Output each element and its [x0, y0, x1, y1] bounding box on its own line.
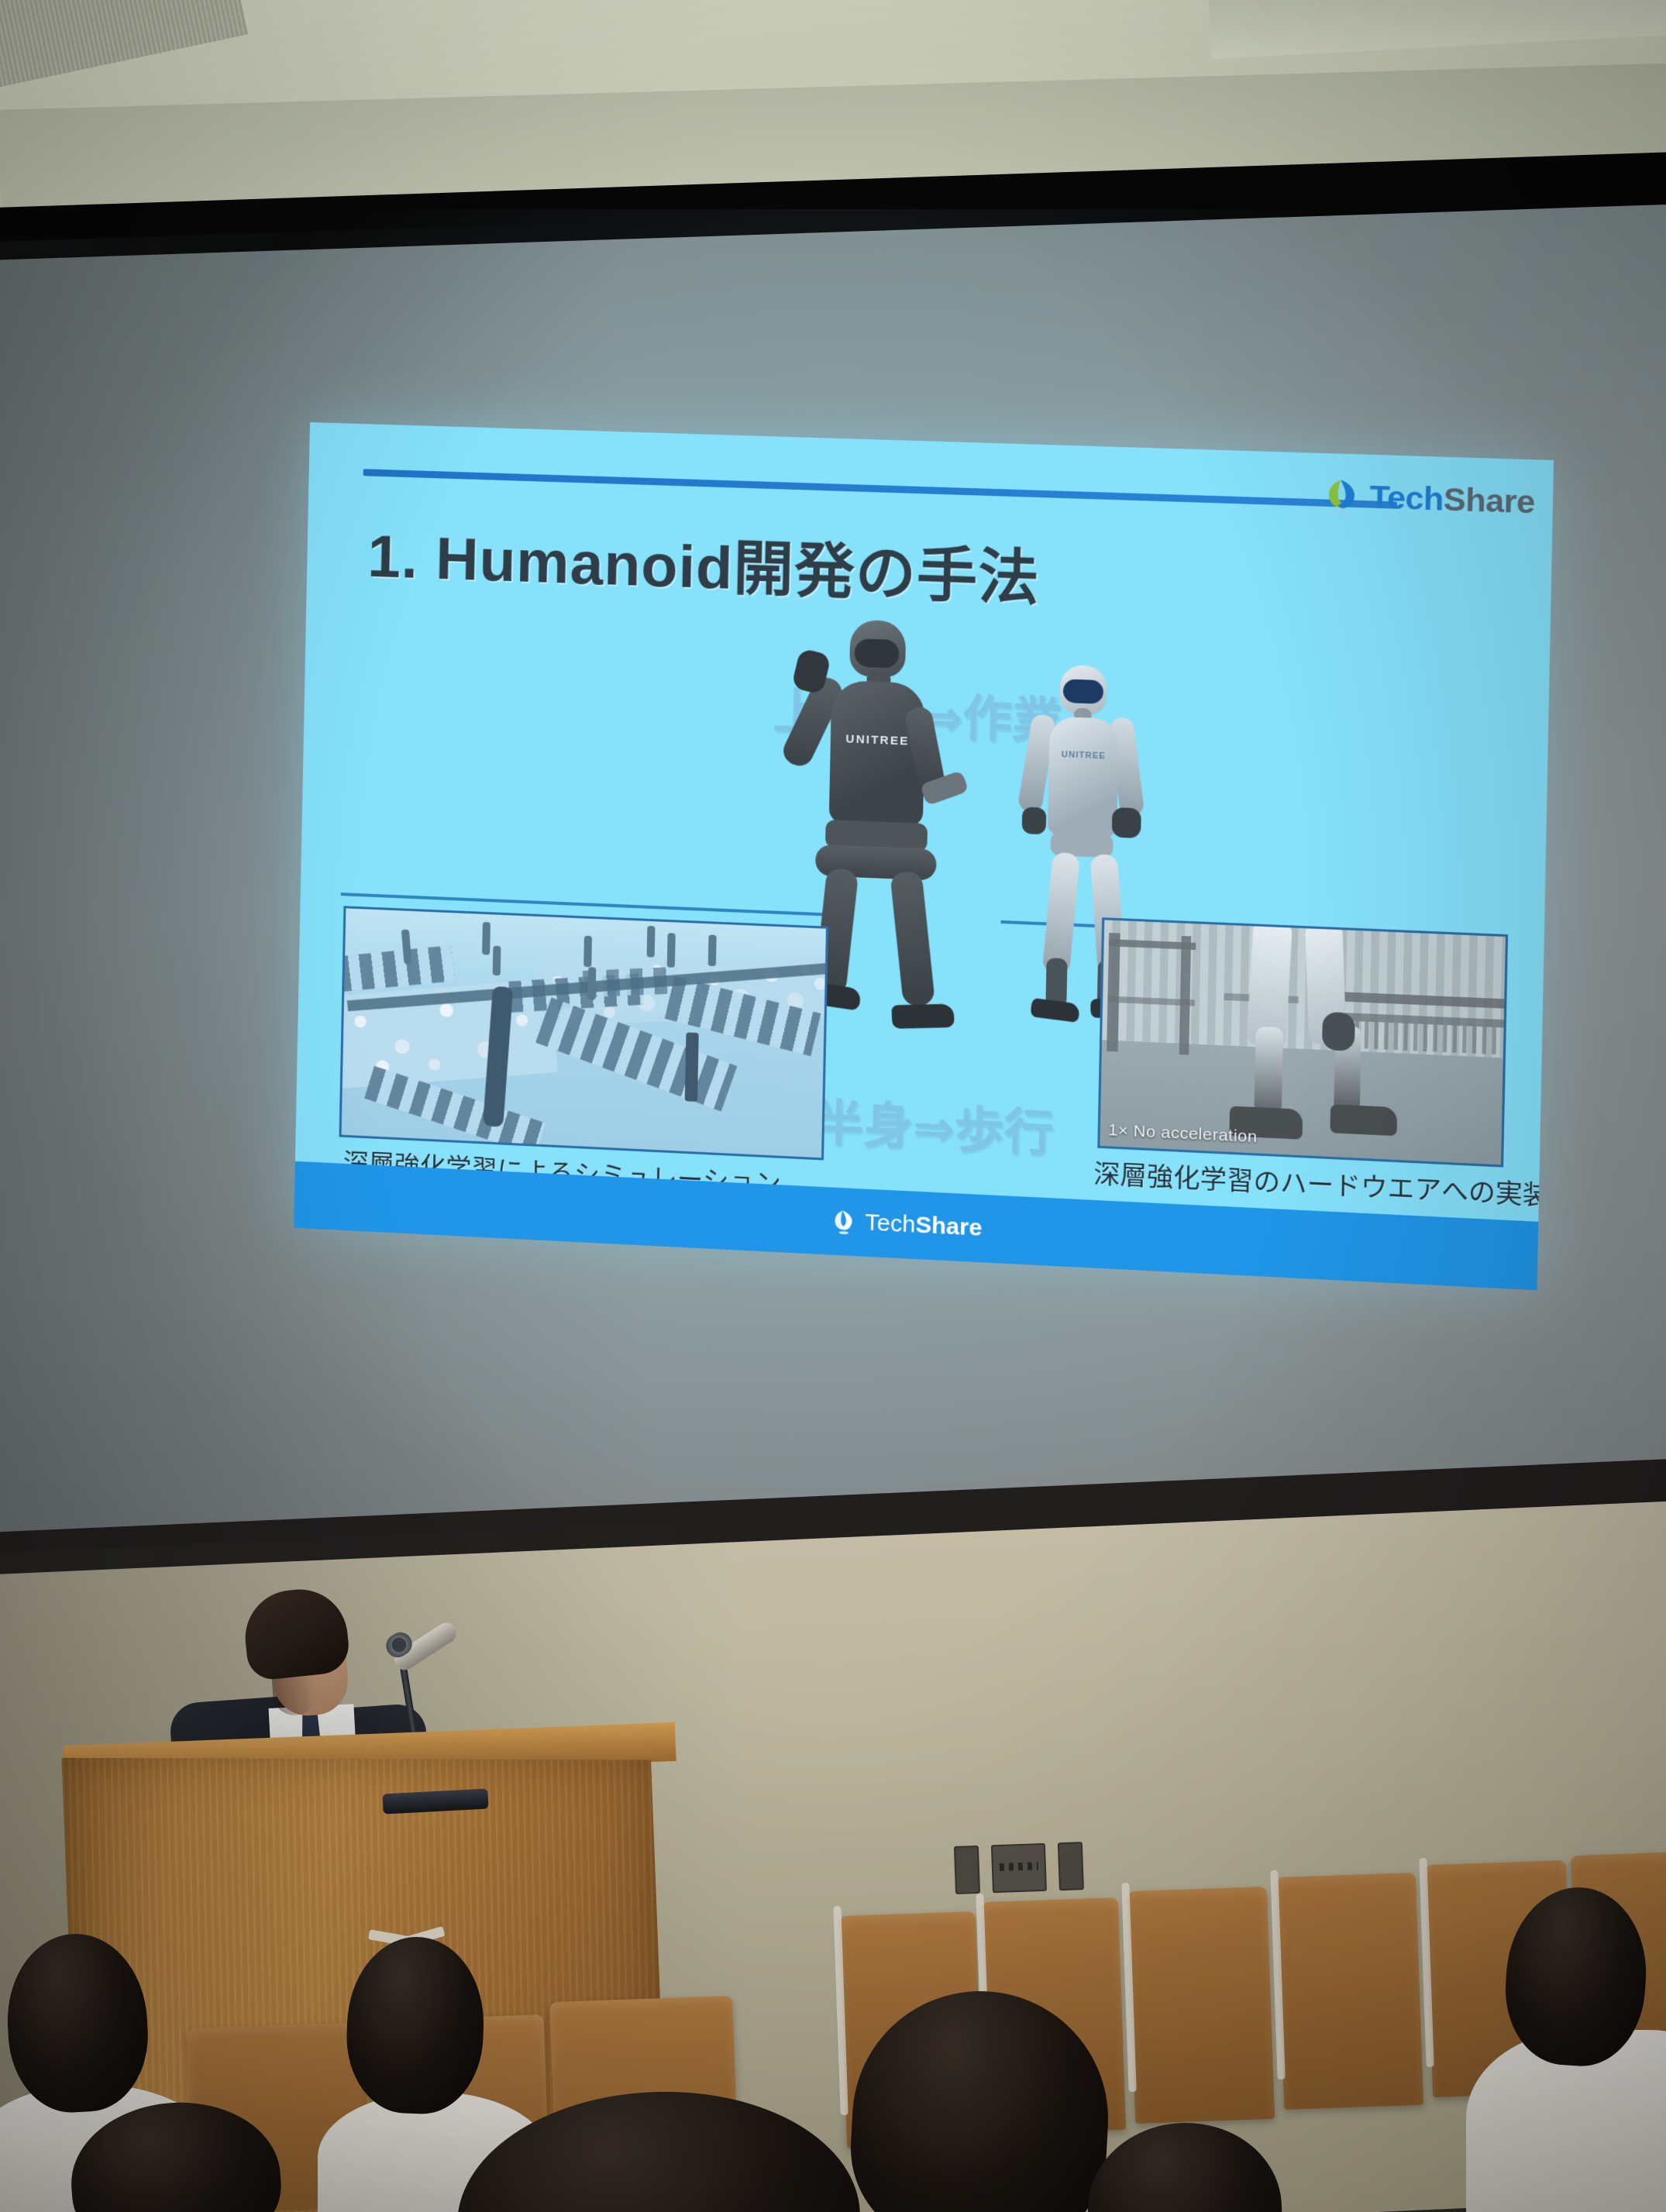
outlet-left-icon [954, 1846, 980, 1894]
sim-agent-8 [708, 934, 717, 966]
robot2-torso [1048, 717, 1119, 838]
outlet-right-icon [1058, 1842, 1084, 1890]
hardware-panel: 1× No acceleration [1097, 917, 1508, 1167]
robot2-right-hand [1112, 807, 1141, 838]
robot-hand-visible [1322, 1012, 1355, 1051]
lecture-hall-scene: TechShare 1. Humanoid開発の手法 上半身⇒作業 UNITRE… [0, 0, 1666, 2212]
auditorium-seat [1276, 1873, 1423, 2110]
techshare-wordmark: TechShare [1369, 480, 1535, 518]
robot-foot-back [1330, 1104, 1397, 1136]
robot-visor [854, 638, 899, 669]
sim-agent-3 [493, 946, 501, 976]
robot-shin-front [1254, 1027, 1283, 1115]
wall-power-outlets [954, 1842, 1087, 1897]
techshare-mark-icon [1324, 477, 1360, 515]
sim-agent-6 [647, 926, 656, 958]
lab-rack-post-left [1107, 933, 1120, 1052]
sim-agent-7 [667, 933, 676, 968]
footer-techshare-wordmark: TechShare [865, 1211, 983, 1240]
logo-text-tech: Tech [1369, 478, 1444, 517]
presenter-hair [241, 1584, 352, 1681]
header-rule [363, 469, 1398, 508]
footer-logo-text-share: Share [915, 1212, 983, 1241]
footer-techshare-mark-icon [831, 1209, 855, 1235]
presentation-slide: TechShare 1. Humanoid開発の手法 上半身⇒作業 UNITRE… [294, 422, 1554, 1290]
footer-logo-text-tech: Tech [865, 1209, 916, 1238]
outlet-center-dots [1000, 1862, 1038, 1871]
sim-agent-9 [685, 1032, 699, 1102]
sim-agent-2 [482, 922, 491, 955]
robot2-left-hand [1022, 807, 1047, 834]
logo-text-share: Share [1443, 480, 1535, 520]
sim-agent-4 [583, 936, 592, 968]
robot2-left-foot [1030, 998, 1079, 1023]
sim-agent-5 [587, 967, 596, 1000]
robot2-left-leg [1042, 851, 1080, 975]
robot2-visor [1063, 679, 1103, 704]
robot-right-leg [890, 871, 935, 1006]
robot-torso [829, 680, 926, 827]
robot-right-foot [891, 1003, 955, 1028]
simulation-panel [339, 906, 828, 1160]
auditorium-seat [1127, 1887, 1275, 2124]
slide-header-logo: TechShare [1324, 477, 1535, 521]
